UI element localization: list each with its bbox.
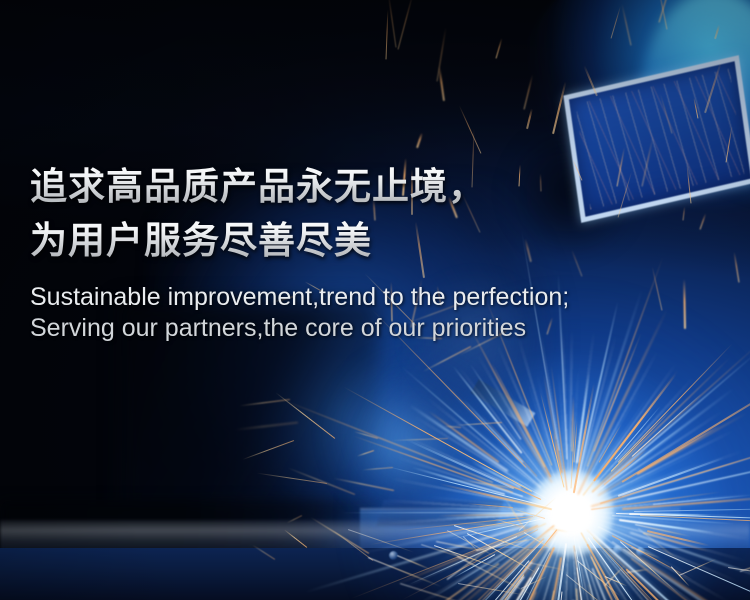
headline-block: 追求高品质产品永无止境， 为用户服务尽善尽美 Sustainable impro… bbox=[30, 160, 730, 344]
subheadline-en-line-1: Sustainable improvement,trend to the per… bbox=[30, 282, 730, 313]
welding-hero-banner: 追求高品质产品永无止境， 为用户服务尽善尽美 Sustainable impro… bbox=[0, 0, 750, 600]
headline-cn-line-2: 为用户服务尽善尽美 bbox=[30, 214, 730, 268]
subheadline-block: Sustainable improvement,trend to the per… bbox=[30, 282, 730, 344]
headline-cn-line-1: 追求高品质产品永无止境， bbox=[30, 160, 730, 214]
subheadline-en-line-2: Serving our partners,the core of our pri… bbox=[30, 313, 730, 344]
